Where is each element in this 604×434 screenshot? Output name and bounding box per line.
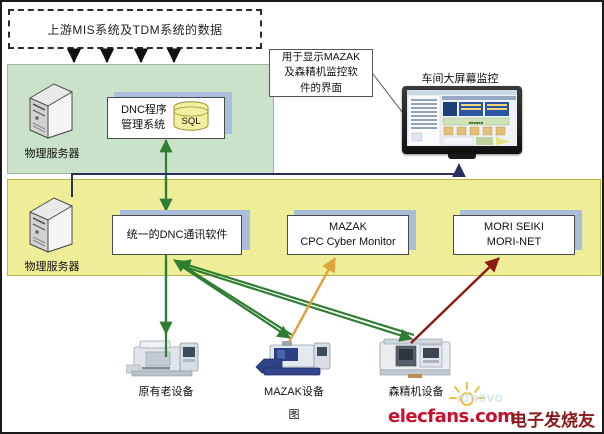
monitor-screen: ■■■■■■ [407, 90, 517, 146]
mori-net-card[interactable]: MORI SEIKI MORI-NET [453, 215, 575, 255]
mazak-cpc-line1: MAZAK [300, 220, 395, 235]
monitor-label: 车间大屏幕监控 [400, 70, 520, 86]
physical-server-yellow-icon [26, 194, 76, 256]
dnc-comm-line1: 统一的DNC通讯软件 [127, 228, 228, 243]
machine-mazak-icon[interactable] [252, 335, 336, 379]
upstream-data-label: 上游MIS系统及TDM系统的数据 [47, 21, 222, 38]
machine-mori-icon[interactable] [374, 332, 458, 380]
mazak-cpc-card[interactable]: MAZAK CPC Cyber Monitor [287, 215, 409, 255]
sql-label: SQL [181, 116, 200, 127]
physical-server-yellow-label: 物理服务器 [10, 258, 94, 274]
sql-database-icon: SQL [171, 100, 211, 137]
mazak-cpc-line2: CPC Cyber Monitor [300, 235, 395, 250]
physical-server-green-icon [26, 80, 76, 142]
dnc-program-card[interactable]: DNC程序 管理系统 SQL [107, 97, 225, 139]
dnc-program-line2: 管理系统 [121, 118, 167, 133]
callout-line1: 用于显示MAZAK [282, 50, 360, 65]
machine-legacy-label: 原有老设备 [114, 383, 218, 399]
watermark-hidden-text: idnovo [457, 389, 503, 405]
diagram-canvas: 上游MIS系统及TDM系统的数据 物理服务器 DNC程序 管理系统 [0, 0, 604, 434]
svg-text:■■■■■■: ■■■■■■ [469, 120, 484, 125]
machine-legacy-icon[interactable] [126, 335, 206, 379]
monitor-stand [448, 154, 476, 159]
shopfloor-monitor[interactable]: ■■■■■■ [402, 86, 522, 162]
monitor-callout-box: 用于显示MAZAK 及森精机监控软 件的界面 [269, 49, 373, 97]
upstream-data-box: 上游MIS系统及TDM系统的数据 [8, 9, 262, 49]
watermark-site: elecfans.com [388, 406, 515, 427]
callout-line2: 及森精机监控软 [282, 65, 360, 80]
dnc-program-line1: DNC程序 [121, 103, 167, 118]
physical-server-green-label: 物理服务器 [10, 145, 94, 161]
callout-line3: 件的界面 [282, 81, 360, 96]
dnc-comm-card[interactable]: 统一的DNC通讯软件 [112, 215, 242, 255]
mori-net-line1: MORI SEIKI [484, 220, 544, 235]
machine-mazak-label: MAZAK设备 [242, 383, 346, 399]
mori-net-line2: MORI-NET [484, 235, 544, 250]
watermark-brand: 电子发烧友 [510, 406, 595, 431]
figure-caption: 图 [262, 406, 326, 422]
